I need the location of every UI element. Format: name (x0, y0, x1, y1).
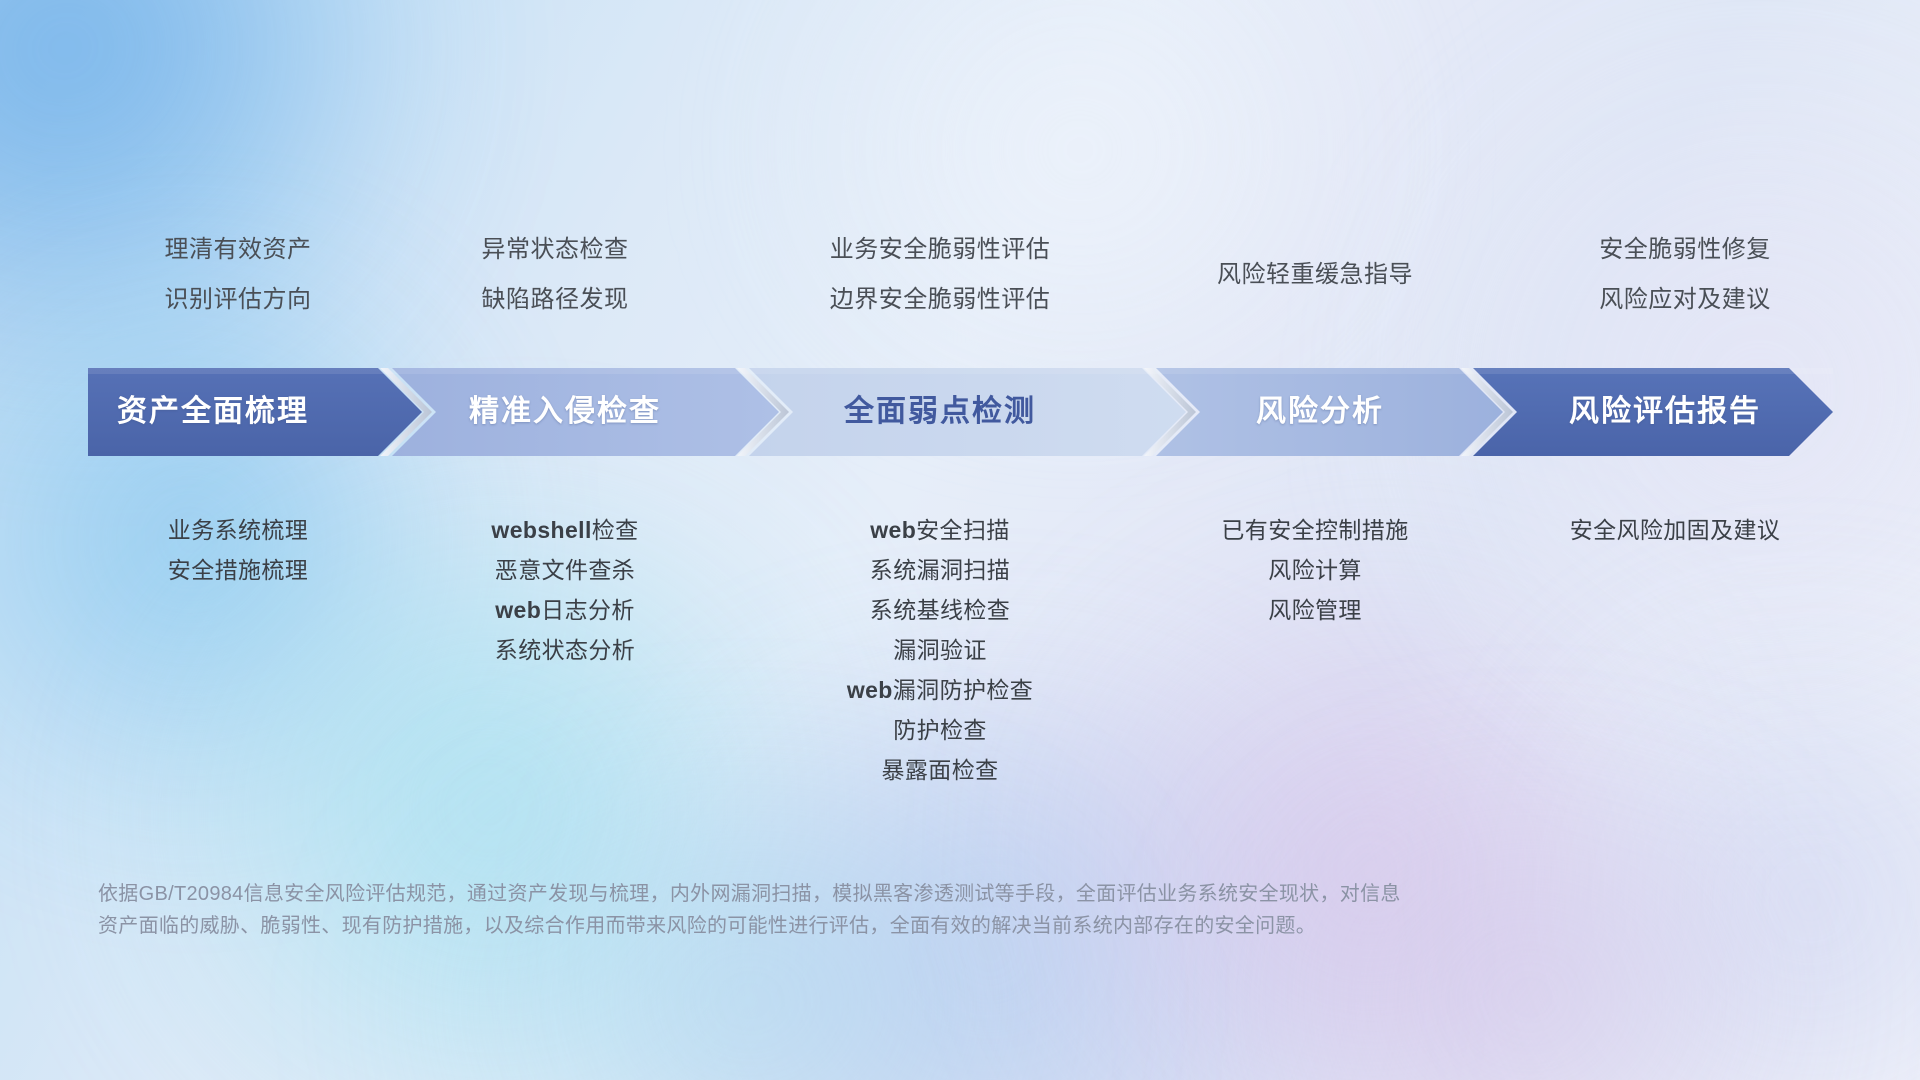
stage-top-list-3: 业务安全脆弱性评估 边界安全脆弱性评估 (790, 225, 1090, 325)
bottom-list-item-rest: 检查 (592, 517, 639, 543)
stage-label-2[interactable]: 精准入侵检查 (440, 368, 690, 456)
bottom-list-item-rest: 恶意文件查杀 (495, 557, 635, 583)
bottom-list-item: 风险管理 (1165, 590, 1465, 630)
bottom-list-item-rest: 防护检查 (893, 717, 987, 743)
bottom-list-item: 业务系统梳理 (88, 510, 388, 550)
bottom-list-item: 系统基线检查 (790, 590, 1090, 630)
stage-top-list-2: 异常状态检查 缺陷路径发现 (405, 225, 705, 325)
stage-label-4[interactable]: 风险分析 (1195, 368, 1445, 456)
bottom-list-item: 安全风险加固及建议 (1520, 510, 1830, 550)
top-list-item: 理清有效资产 (88, 225, 388, 275)
bottom-list-item-rest: 已有安全控制措施 (1221, 517, 1408, 543)
footer-line-1: 依据GB/T20984信息安全风险评估规范，通过资产发现与梳理，内外网漏洞扫描，… (98, 878, 1798, 910)
stage-bottom-list-4: 已有安全控制措施 风险计算 风险管理 (1165, 510, 1465, 630)
bottom-list-item: web安全扫描 (790, 510, 1090, 550)
bottom-list-item: 漏洞验证 (790, 630, 1090, 670)
bottom-list-item-rest: 风险计算 (1268, 557, 1362, 583)
bottom-list-item-lead: web (495, 597, 541, 623)
bottom-list-item-lead: web (870, 517, 916, 543)
bottom-list-item-rest: 漏洞验证 (893, 637, 987, 663)
bottom-list-item-rest: 业务系统梳理 (168, 517, 308, 543)
bottom-list-item: 安全措施梳理 (88, 550, 388, 590)
footer-line-2: 资产面临的威胁、脆弱性、现有防护措施，以及综合作用而带来风险的可能性进行评估，全… (98, 910, 1798, 942)
top-list-item: 安全脆弱性修复 (1535, 225, 1835, 275)
top-list-item: 识别评估方向 (88, 275, 388, 325)
bottom-list-item: 防护检查 (790, 710, 1090, 750)
bottom-list-item-lead: webshell (491, 517, 591, 543)
footer-description: 依据GB/T20984信息安全风险评估规范，通过资产发现与梳理，内外网漏洞扫描，… (98, 878, 1798, 942)
bottom-list-item: 暴露面检查 (790, 750, 1090, 790)
bottom-list-item: web漏洞防护检查 (790, 670, 1090, 710)
bottom-list-item-rest: 暴露面检查 (882, 757, 999, 783)
bottom-list-item: webshell检查 (415, 510, 715, 550)
bottom-list-item: 已有安全控制措施 (1165, 510, 1465, 550)
stage-top-list-1: 理清有效资产 识别评估方向 (88, 225, 388, 325)
bottom-list-item-rest: 系统基线检查 (870, 597, 1010, 623)
top-list-item: 缺陷路径发现 (405, 275, 705, 325)
stage-bottom-list-5: 安全风险加固及建议 (1520, 510, 1830, 550)
bottom-list-item-rest: 系统漏洞扫描 (870, 557, 1010, 583)
bottom-list-item-rest: 安全措施梳理 (168, 557, 308, 583)
stage-top-list-4: 风险轻重缓急指导 (1165, 250, 1465, 300)
stage-label-5[interactable]: 风险评估报告 (1540, 368, 1790, 456)
bottom-list-item-lead: web (847, 677, 893, 703)
bottom-list-item-rest: 系统状态分析 (495, 637, 635, 663)
bottom-list-item: 恶意文件查杀 (415, 550, 715, 590)
top-list-item: 风险轻重缓急指导 (1165, 250, 1465, 300)
bottom-list-item-rest: 日志分析 (541, 597, 635, 623)
top-list-item: 风险应对及建议 (1535, 275, 1835, 325)
stage-label-3[interactable]: 全面弱点检测 (815, 368, 1065, 456)
bottom-list-item: 风险计算 (1165, 550, 1465, 590)
bottom-list-item-rest: 安全风险加固及建议 (1570, 517, 1781, 543)
top-list-item: 边界安全脆弱性评估 (790, 275, 1090, 325)
stage-bottom-list-2: webshell检查 恶意文件查杀 web日志分析 系统状态分析 (415, 510, 715, 670)
bottom-list-item-rest: 安全扫描 (916, 517, 1010, 543)
stage-bottom-list-3: web安全扫描 系统漏洞扫描 系统基线检查 漏洞验证 web漏洞防护检查 防护检… (790, 510, 1090, 790)
process-diagram: 理清有效资产 识别评估方向 异常状态检查 缺陷路径发现 业务安全脆弱性评估 边界… (0, 0, 1920, 1080)
bottom-list-item-rest: 风险管理 (1268, 597, 1362, 623)
bottom-list-item: 系统漏洞扫描 (790, 550, 1090, 590)
bottom-list-item-rest: 漏洞防护检查 (893, 677, 1033, 703)
stage-label-1[interactable]: 资产全面梳理 (88, 368, 338, 456)
top-list-item: 业务安全脆弱性评估 (790, 225, 1090, 275)
bottom-list-item: 系统状态分析 (415, 630, 715, 670)
bottom-list-item: web日志分析 (415, 590, 715, 630)
stage-top-list-5: 安全脆弱性修复 风险应对及建议 (1535, 225, 1835, 325)
top-list-item: 异常状态检查 (405, 225, 705, 275)
stage-bottom-list-1: 业务系统梳理 安全措施梳理 (88, 510, 388, 590)
